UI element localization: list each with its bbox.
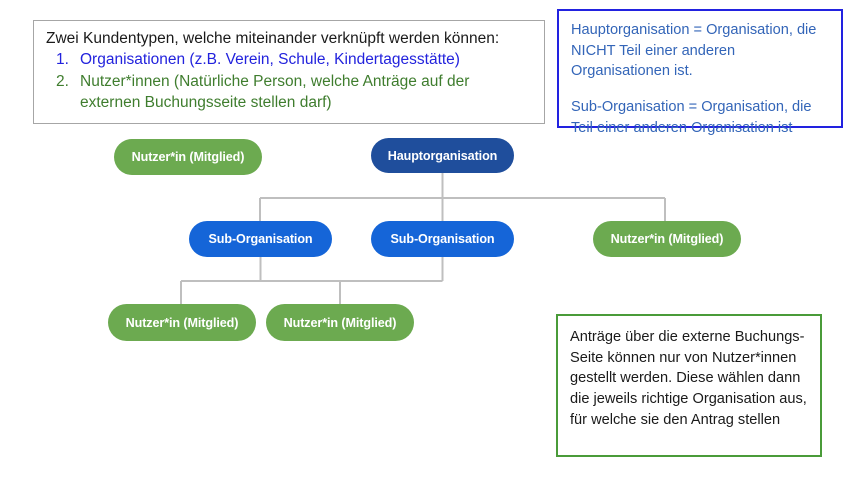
node-user-member-bottom-1[interactable]: Nutzer*in (Mitglied): [108, 304, 256, 341]
node-label: Sub-Organisation: [208, 232, 312, 246]
note-text: Anträge über die externe Buchungs-Seite …: [570, 327, 810, 431]
note-callout-box: Anträge über die externe Buchungs-Seite …: [556, 314, 822, 457]
diagram-canvas: Nutzer*in (Mitglied) Hauptorganisation S…: [0, 0, 850, 478]
legend-title: Zwei Kundentypen, welche miteinander ver…: [46, 29, 534, 49]
definition-hauptorganisation: Hauptorganisation = Organisation, die NI…: [571, 20, 831, 82]
definition-callout-box: Hauptorganisation = Organisation, die NI…: [557, 9, 843, 128]
legend-list: 1. Organisationen (z.B. Verein, Schule, …: [46, 50, 534, 114]
legend-item-number: 1.: [46, 50, 80, 71]
legend-item-number: 2.: [46, 72, 80, 114]
node-label: Nutzer*in (Mitglied): [126, 316, 239, 330]
node-user-member-left-top[interactable]: Nutzer*in (Mitglied): [114, 139, 262, 175]
node-label: Hauptorganisation: [388, 149, 498, 163]
legend-item-organisationen: 1. Organisationen (z.B. Verein, Schule, …: [46, 50, 534, 71]
node-sub-organisation-2[interactable]: Sub-Organisation: [371, 221, 514, 257]
node-label: Nutzer*in (Mitglied): [132, 150, 245, 164]
legend-item-label: Organisationen (z.B. Verein, Schule, Kin…: [80, 50, 534, 71]
node-label: Nutzer*in (Mitglied): [284, 316, 397, 330]
definition-sub-organisation: Sub-Organisation = Organisation, die Tei…: [571, 97, 831, 138]
node-user-member-bottom-2[interactable]: Nutzer*in (Mitglied): [266, 304, 414, 341]
legend-item-label: Nutzer*innen (Natürliche Person, welche …: [80, 72, 534, 114]
node-label: Sub-Organisation: [390, 232, 494, 246]
legend-callout-box: Zwei Kundentypen, welche miteinander ver…: [33, 20, 545, 124]
node-hauptorganisation[interactable]: Hauptorganisation: [371, 138, 514, 173]
legend-item-nutzerinnen: 2. Nutzer*innen (Natürliche Person, welc…: [46, 72, 534, 114]
node-label: Nutzer*in (Mitglied): [611, 232, 724, 246]
node-user-member-right[interactable]: Nutzer*in (Mitglied): [593, 221, 741, 257]
node-sub-organisation-1[interactable]: Sub-Organisation: [189, 221, 332, 257]
